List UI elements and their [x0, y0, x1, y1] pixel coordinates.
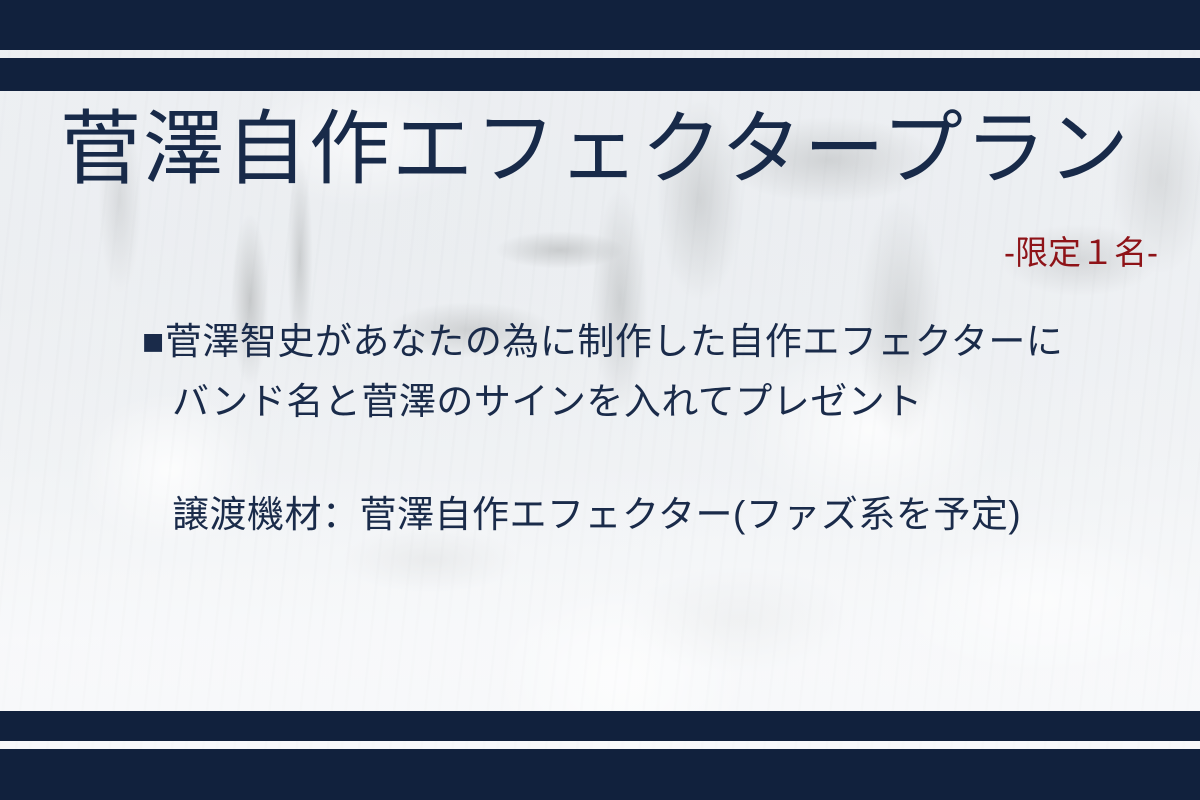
limited-quantity-badge: -限定１名-	[1004, 226, 1158, 274]
body-line-1: ■菅澤智史があなたの為に制作した自作エフェクターに	[142, 312, 1152, 372]
slide-body: ■菅澤智史があなたの為に制作した自作エフェクターに バンド名と菅澤のサインを入れ…	[142, 312, 1152, 545]
slide-title: 菅澤自作エフェクタープラン	[60, 108, 1150, 194]
decorative-bar-bottom-inner	[0, 711, 1200, 741]
decorative-bar-top-outer	[0, 0, 1200, 50]
body-spacer	[142, 433, 1152, 485]
slide-canvas: 菅澤自作エフェクタープラン -限定１名- ■菅澤智史があなたの為に制作した自作エ…	[0, 0, 1200, 800]
decorative-bar-bottom-outer	[0, 749, 1200, 800]
body-line-2: バンド名と菅澤のサインを入れてプレゼント	[142, 372, 1152, 432]
body-line-3: 譲渡機材：菅澤自作エフェクター(ファズ系を予定)	[142, 485, 1152, 545]
decorative-bar-top-inner	[0, 58, 1200, 91]
